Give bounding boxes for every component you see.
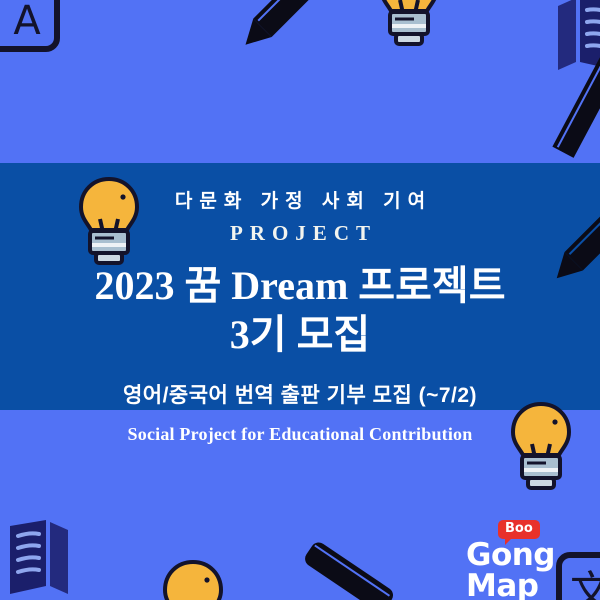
- recruitment-detail: 영어/중국어 번역 출판 기부 모집 (~7/2): [123, 379, 477, 409]
- logo-text: Gong Map: [466, 540, 600, 600]
- page-title: 2023 꿈 Dream 프로젝트 3기 모집: [95, 262, 506, 360]
- glyph-a: A: [13, 0, 40, 44]
- headline-line-1: 2023 꿈 Dream 프로젝트: [95, 263, 506, 308]
- pencil-icon-bottom: [286, 540, 396, 600]
- lightbulb-icon-top: [374, 0, 444, 48]
- subcaption-text: Social Project for Educational Contribut…: [0, 424, 600, 445]
- pencil-icon-top-left: [206, 0, 326, 80]
- project-word: PROJECT: [223, 221, 377, 246]
- banner-text-block: 다문화 가정 사회 기여 PROJECT 2023 꿈 Dream 프로젝트 3…: [0, 163, 600, 410]
- poster-canvas: A: [0, 0, 600, 600]
- kicker-text: 다문화 가정 사회 기여: [168, 191, 432, 214]
- translate-box-a-icon: A: [0, 0, 60, 52]
- gong-map-logo[interactable]: Gong Map: [466, 540, 600, 600]
- lightbulb-icon-bottom: [158, 558, 228, 600]
- headline-line-2: 3기 모집: [95, 311, 506, 360]
- lightbulb-icon-right: [506, 400, 576, 492]
- book-icon-bottom-left: [6, 520, 70, 598]
